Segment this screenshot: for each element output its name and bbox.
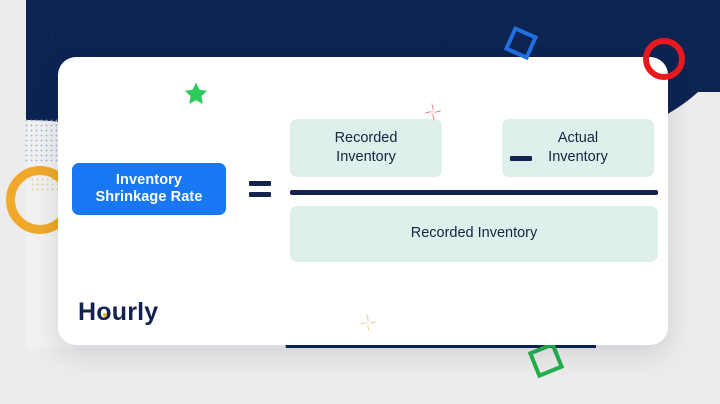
chip-label-line2: Shrinkage Rate (96, 189, 203, 206)
equals-sign-icon (238, 181, 282, 197)
recorded-inventory-box: Recorded Inventory (290, 119, 442, 177)
denominator-recorded-inventory-box: Recorded Inventory (290, 206, 658, 262)
formula-row: Inventory Shrinkage Rate Recorded Invent… (72, 109, 668, 269)
chip-label-line1: Inventory (116, 172, 182, 189)
hourly-logo-dot-icon (103, 313, 107, 317)
red-ring-icon (643, 38, 685, 80)
hourly-logo: Hourly (78, 298, 158, 327)
recorded-inventory-line2: Inventory (336, 148, 396, 167)
green-star-icon (183, 81, 209, 107)
actual-inventory-line2: Inventory (548, 148, 608, 167)
actual-inventory-line1: Actual (558, 129, 598, 148)
inventory-shrinkage-rate-chip: Inventory Shrinkage Rate (72, 163, 226, 215)
fraction-bar (290, 190, 658, 195)
gold-sparkle-icon (358, 313, 378, 333)
equals-bar-bottom (249, 192, 271, 197)
denominator-label: Recorded Inventory (411, 224, 538, 243)
actual-inventory-box: Actual Inventory (502, 119, 654, 177)
inventory-shrinkage-rate-graphic: Inventory Shrinkage Rate Recorded Invent… (0, 0, 720, 404)
fraction: Recorded Inventory Actual Inventory Reco… (290, 117, 668, 262)
fraction-numerator: Recorded Inventory Actual Inventory (290, 117, 668, 179)
minus-sign-icon (510, 156, 532, 161)
equals-bar-top (249, 181, 271, 186)
recorded-inventory-line1: Recorded (335, 129, 398, 148)
red-sparkle-icon (423, 102, 443, 122)
formula-card: Inventory Shrinkage Rate Recorded Invent… (58, 57, 668, 345)
navy-sparkle-icon (41, 30, 63, 52)
